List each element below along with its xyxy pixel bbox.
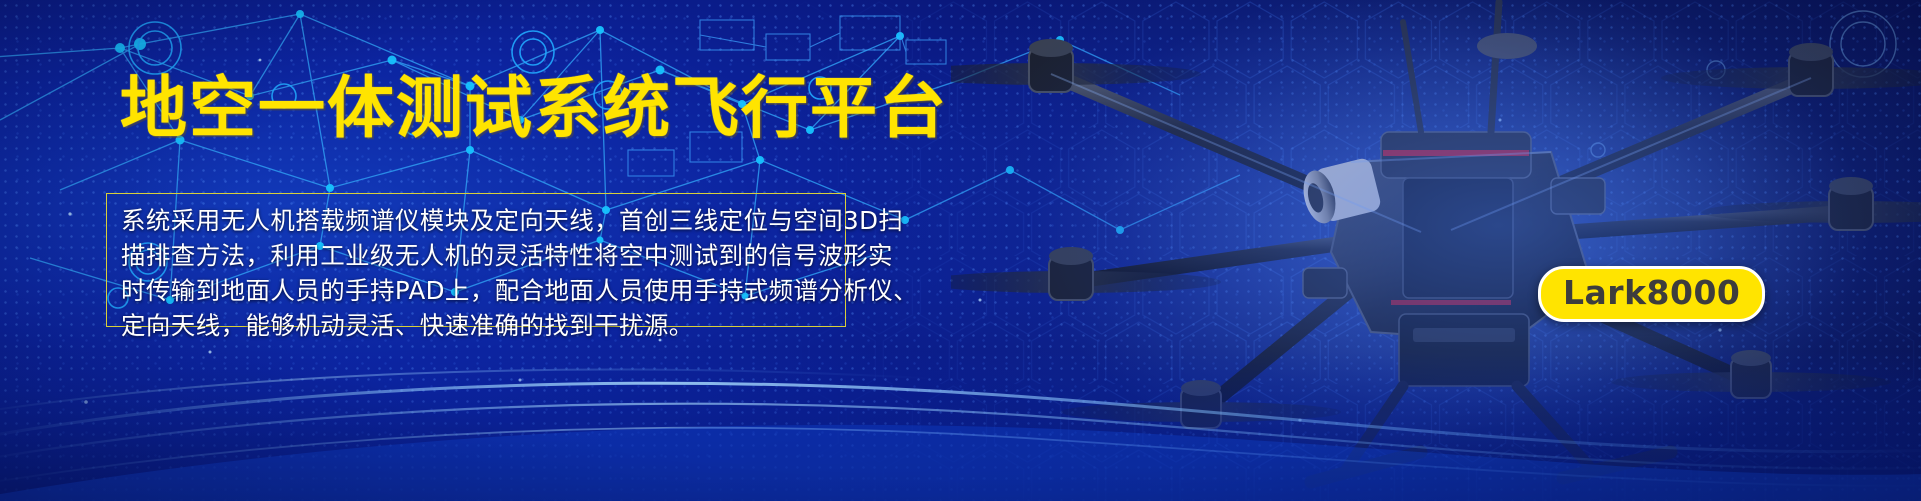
description-line-3: 时传输到地面人员的手持PAD上，配合地面人员使用手持式频谱分析仪、 xyxy=(121,273,831,308)
description-line-1: 系统采用无人机搭载频谱仪模块及定向天线，首创三线定位与空间3D扫 xyxy=(121,203,831,238)
page-title: 地空一体测试系统飞行平台 xyxy=(120,75,948,142)
banner-root: 地空一体测试系统飞行平台 系统采用无人机搭载频谱仪模块及定向天线，首创三线定位与… xyxy=(0,0,1921,501)
description-line-2: 描排查方法，利用工业级无人机的灵活特性将空中测试到的信号波形实 xyxy=(121,238,831,273)
description-box: 系统采用无人机搭载频谱仪模块及定向天线，首创三线定位与空间3D扫 描排查方法，利… xyxy=(106,193,846,327)
product-model-badge: Lark8000 xyxy=(1538,266,1765,322)
description-line-4: 定向天线，能够机动灵活、快速准确的找到干扰源。 xyxy=(121,308,831,343)
